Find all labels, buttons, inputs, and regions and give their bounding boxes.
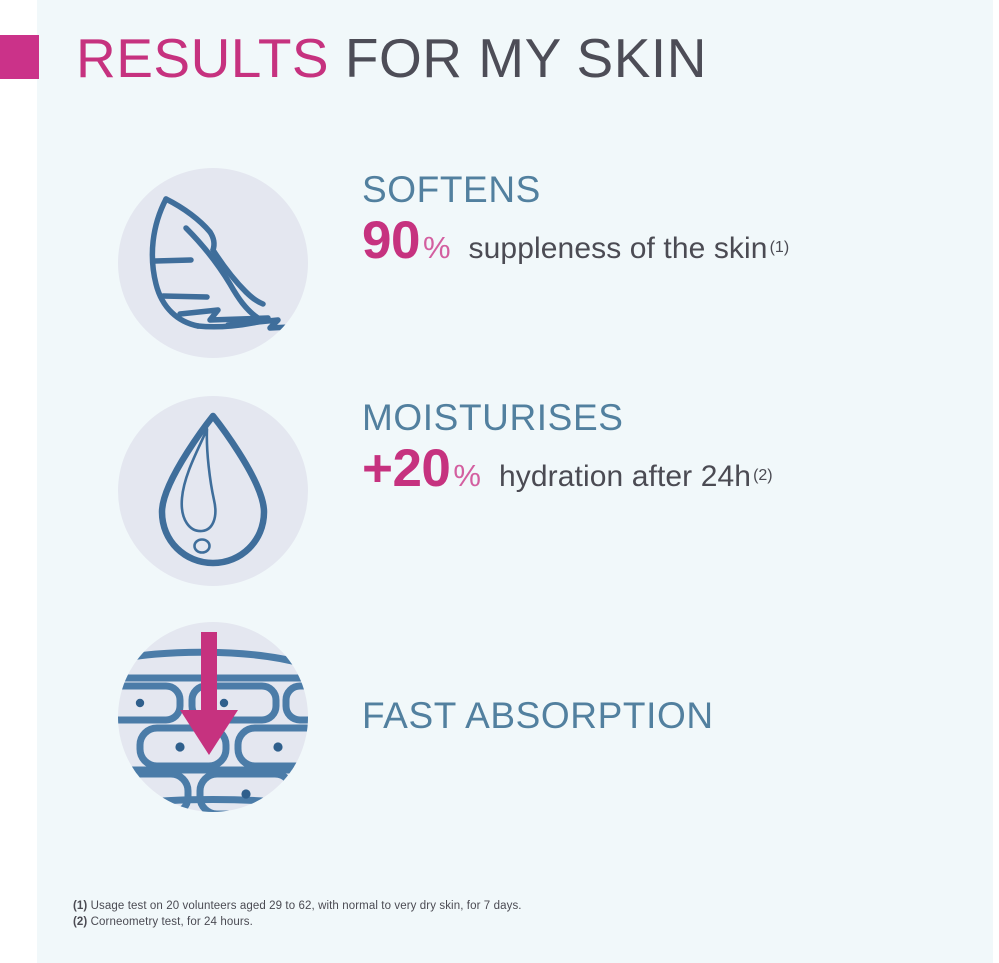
- accent-square: [0, 35, 39, 79]
- footnote-marker: (1): [73, 900, 87, 912]
- feather-icon: [118, 168, 308, 358]
- skin-absorption-icon: [118, 622, 308, 812]
- benefit-footnote-ref: (1): [770, 239, 790, 256]
- page-title-strong: RESULTS: [76, 27, 329, 89]
- benefit-percent: %: [423, 230, 451, 265]
- benefit-heading: MOISTURISES: [362, 396, 962, 439]
- benefit-row-moisturises: MOISTURISES +20%hydration after 24h(2): [0, 396, 999, 596]
- page-title: RESULTS FOR MY SKIN: [76, 27, 707, 89]
- water-drop-icon: [118, 396, 308, 586]
- footnotes: (1) Usage test on 20 volunteers aged 29 …: [73, 898, 522, 930]
- benefit-number: +20: [362, 439, 450, 498]
- results-infographic: RESULTS FOR MY SKIN: [0, 0, 999, 963]
- footnote-text: Usage test on 20 volunteers aged 29 to 6…: [87, 900, 521, 912]
- footnote-item: (2) Corneometry test, for 24 hours.: [73, 914, 522, 930]
- benefit-text-softens: SOFTENS 90%suppleness of the skin(1): [362, 168, 962, 267]
- benefit-heading: SOFTENS: [362, 168, 962, 211]
- footnote-marker: (2): [73, 916, 87, 928]
- benefit-heading: FAST ABSORPTION: [362, 694, 962, 737]
- footnote-item: (1) Usage test on 20 volunteers aged 29 …: [73, 898, 522, 914]
- benefit-stat-line: 90%suppleness of the skin(1): [362, 214, 962, 267]
- benefit-text-moisturises: MOISTURISES +20%hydration after 24h(2): [362, 396, 962, 495]
- page-title-rest: FOR MY SKIN: [329, 27, 707, 89]
- benefit-description: hydration after 24h: [499, 460, 751, 493]
- footnote-text: Corneometry test, for 24 hours.: [87, 916, 253, 928]
- benefit-row-softens: SOFTENS 90%suppleness of the skin(1): [0, 168, 999, 368]
- benefit-description: suppleness of the skin: [469, 232, 768, 265]
- benefit-stat-line: +20%hydration after 24h(2): [362, 442, 962, 495]
- benefit-footnote-ref: (2): [753, 467, 773, 484]
- benefit-text-fast-absorption: FAST ABSORPTION: [362, 694, 962, 737]
- benefit-row-fast-absorption: FAST ABSORPTION: [0, 622, 999, 822]
- benefit-percent: %: [453, 458, 481, 493]
- benefit-number: 90: [362, 211, 420, 270]
